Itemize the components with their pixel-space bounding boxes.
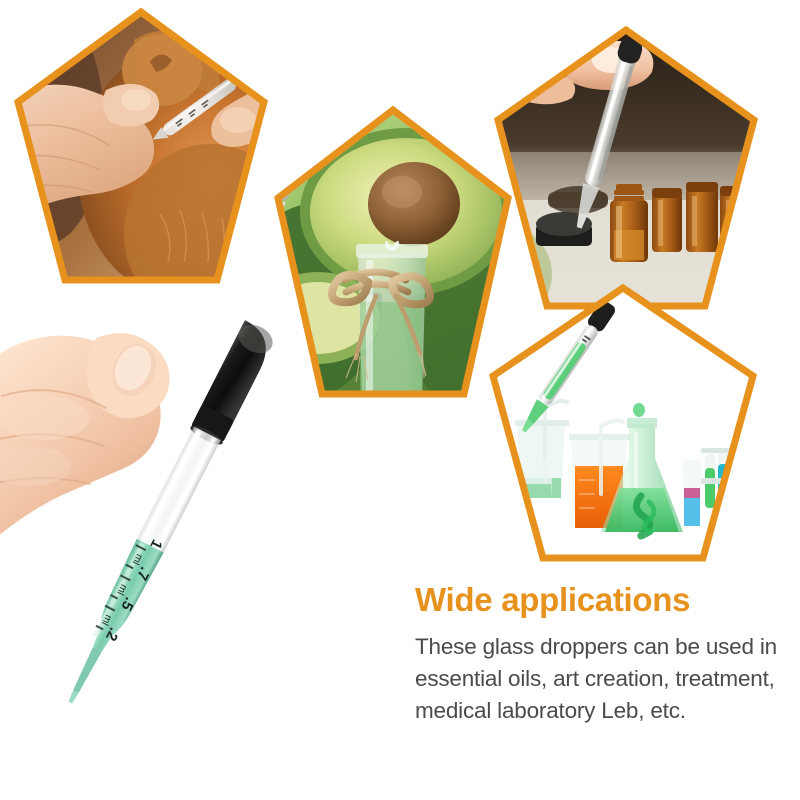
pentagon-laboratory-glassware-image bbox=[487, 282, 759, 564]
hero-hand bbox=[0, 333, 170, 538]
body-description: These glass droppers can be used in esse… bbox=[415, 631, 785, 728]
hero-hand-holding-dropper: 1 .7 .5 .2 ml ml ml bbox=[0, 300, 400, 730]
pentagon-essential-oil-bottles bbox=[492, 24, 760, 312]
page-title: Wide applications bbox=[415, 583, 785, 618]
pentagon-essential-oil-bottles-image bbox=[492, 24, 760, 312]
pentagon-cat-ear-drops-image bbox=[10, 4, 272, 288]
copy-block: Wide applications These glass droppers c… bbox=[415, 583, 785, 727]
pentagon-cat-ear-drops bbox=[10, 4, 272, 288]
hero-hand-holding-dropper-image: 1 .7 .5 .2 ml ml ml bbox=[0, 300, 400, 730]
pentagon-laboratory-glassware bbox=[487, 282, 759, 564]
product-banner-canvas: 1 .7 .5 .2 ml ml ml Wide applications Th… bbox=[0, 0, 800, 800]
